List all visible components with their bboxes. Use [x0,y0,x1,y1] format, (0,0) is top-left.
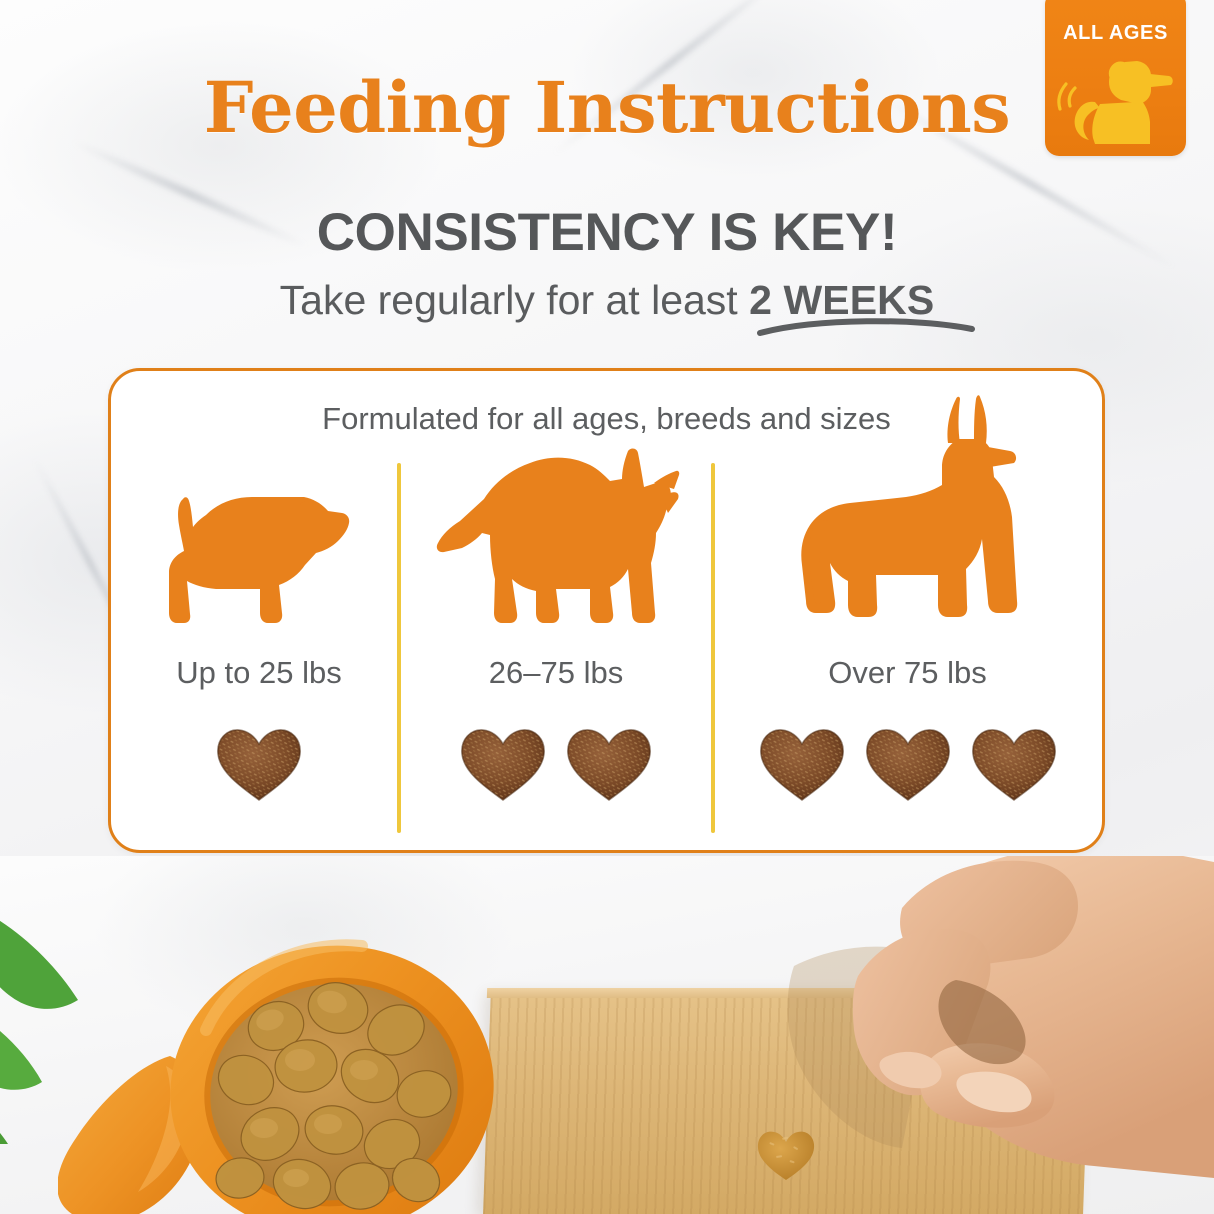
heart-kibble-icon [968,723,1060,803]
page-title: Feeding Instructions [0,66,1214,149]
weight-label-small: Up to 25 lbs [121,655,397,691]
subheadline-prefix: Take regularly for at least [280,277,749,323]
subheadline: Take regularly for at least 2 WEEKS [0,277,1214,324]
size-column-medium: 26–75 lbs [401,463,711,843]
orange-dog-bowl [166,934,498,1214]
medium-dog-illustration [401,435,711,635]
underline-swoosh-icon [757,312,975,338]
weight-label-medium: 26–75 lbs [401,655,711,691]
heart-kibble-icon [213,723,305,803]
sitting-dog-icon [1051,46,1181,151]
size-column-small: Up to 25 lbs [121,463,397,843]
heart-kibble-icon [457,723,549,803]
small-dog-icon [156,485,362,635]
product-photo [0,856,1214,1214]
held-treat-icon [756,1128,816,1182]
heart-kibble-icon [563,723,655,803]
infographic-stage: Feeding Instructions ALL AGES CONSISTENC… [0,0,1214,1214]
weight-label-large: Over 75 lbs [715,655,1100,691]
treat-count-large [715,723,1100,803]
large-dog-illustration [715,395,1100,635]
heart-kibble-icon [862,723,954,803]
feeding-chart-card: Formulated for all ages, breeds and size… [108,368,1105,853]
heart-kibble-icon [756,723,848,803]
all-ages-badge-label: ALL AGES [1045,22,1186,45]
treat-count-small [121,723,397,803]
size-column-large: Over 75 lbs [715,463,1100,843]
headline: CONSISTENCY IS KEY! [0,202,1214,263]
large-dog-icon [792,393,1024,635]
medium-dog-icon [432,443,680,635]
small-dog-illustration [121,475,397,635]
all-ages-badge: ALL AGES [1045,0,1186,156]
treat-count-medium [401,723,711,803]
